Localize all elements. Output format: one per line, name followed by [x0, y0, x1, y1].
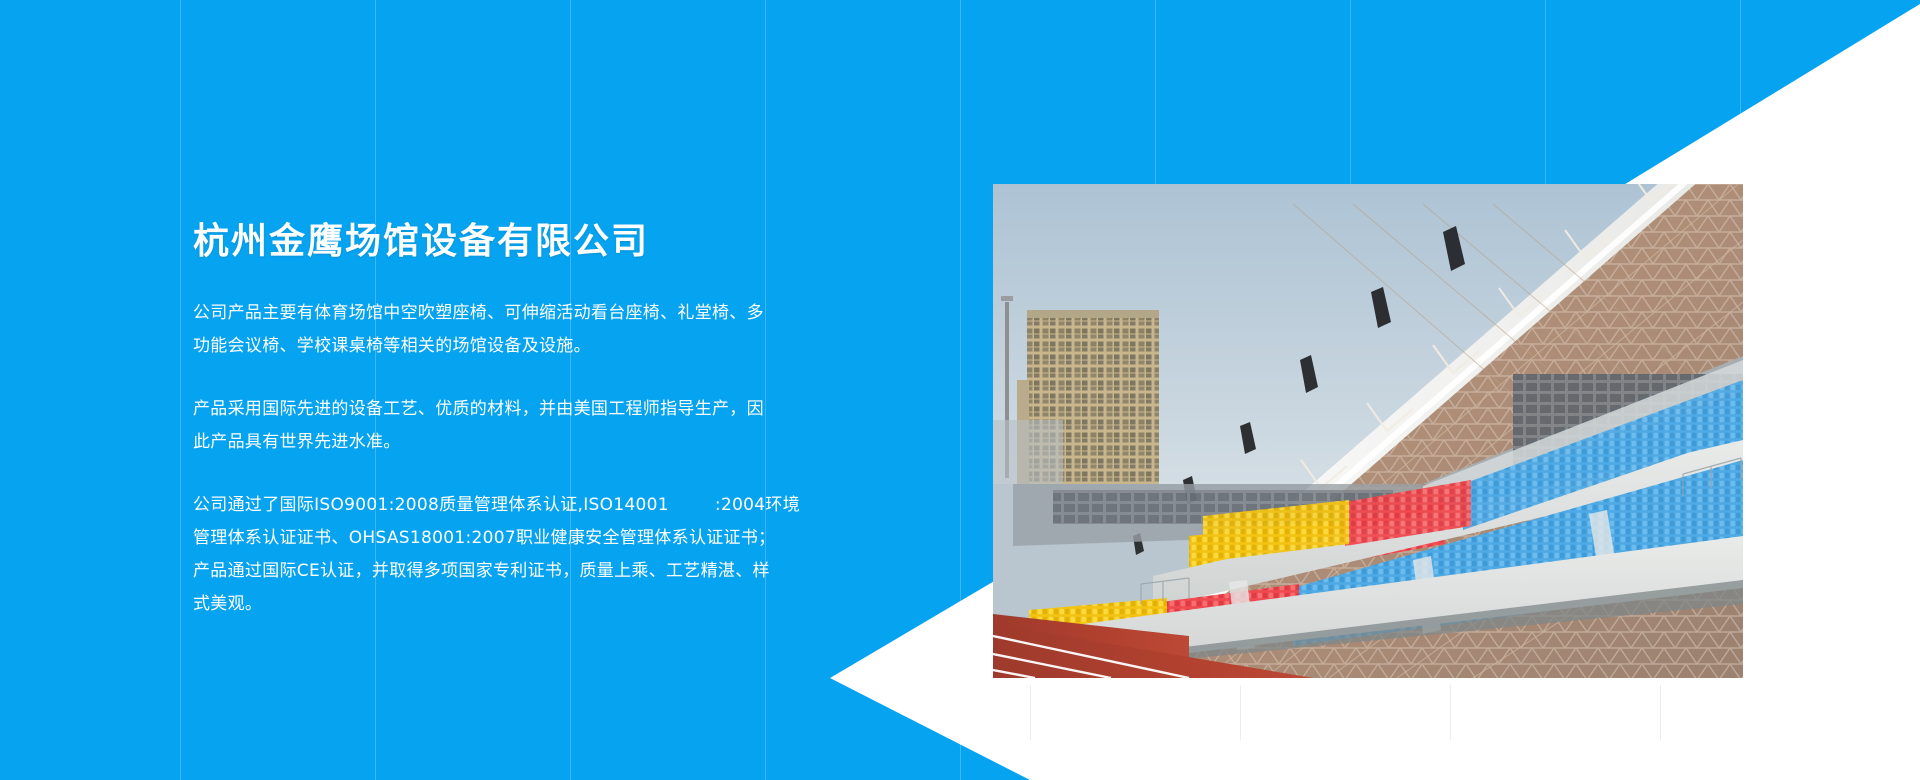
paragraph-technology: 产品采用国际先进的设备工艺、优质的材料，并由美国工程师指导生产，因 此产品具有世… — [193, 393, 823, 459]
paragraph-certifications-line-4: 式美观。 — [193, 594, 262, 614]
paragraph-certifications: 公司通过了国际ISO9001:2008质量管理体系认证,ISO14001:200… — [193, 489, 823, 621]
gridline-on-white — [1240, 685, 1241, 740]
paragraph-certifications-line-1a: 公司通过了国际ISO9001:2008质量管理体系认证,ISO14001 — [193, 495, 669, 515]
hero-text-column: 杭州金鹰场馆设备有限公司 公司产品主要有体育场馆中空吹塑座椅、可伸缩活动看台座椅… — [193, 220, 823, 621]
paragraph-certifications-line-3: 产品通过国际CE认证，并取得多项国家专利证书，质量上乘、工艺精湛、样 — [193, 561, 770, 581]
paragraph-technology-line-2: 此产品具有世界先进水准。 — [193, 432, 401, 452]
stadium-photo-image — [993, 184, 1743, 678]
gridline-on-white — [1030, 685, 1031, 740]
stadium-photo — [993, 184, 1743, 678]
paragraph-certifications-line-1b: :2004环境 — [715, 495, 800, 515]
paragraph-products-line-2: 功能会议椅、学校课桌椅等相关的场馆设备及设施。 — [193, 336, 591, 356]
gridline-on-white — [1450, 685, 1451, 740]
gridline-on-white — [1660, 685, 1661, 740]
paragraph-certifications-line-2: 管理体系认证证书、OHSAS18001:2007职业健康安全管理体系认证证书； — [193, 528, 775, 548]
paragraph-products-line-1: 公司产品主要有体育场馆中空吹塑座椅、可伸缩活动看台座椅、礼堂椅、多 — [193, 303, 764, 323]
paragraph-technology-line-1: 产品采用国际先进的设备工艺、优质的材料，并由美国工程师指导生产，因 — [193, 399, 764, 419]
paragraph-products: 公司产品主要有体育场馆中空吹塑座椅、可伸缩活动看台座椅、礼堂椅、多 功能会议椅、… — [193, 297, 823, 363]
hero-banner: 杭州金鹰场馆设备有限公司 公司产品主要有体育场馆中空吹塑座椅、可伸缩活动看台座椅… — [0, 0, 1920, 780]
page-title: 杭州金鹰场馆设备有限公司 — [193, 220, 823, 263]
